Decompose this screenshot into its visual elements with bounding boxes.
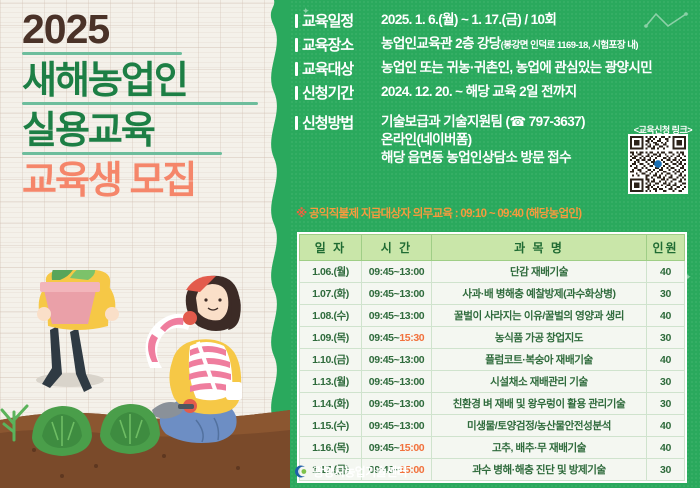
poster-root: 2025 새해농업인 실용교육 교육생 모집 [0,0,700,488]
notice-text: 공익직불제 지급대상자 의무교육 : 09:10 ~ 09:40 (해당농업인) [309,208,581,220]
cell-subject: 단감 재배기술 [432,261,647,283]
headline-underline-2 [22,102,258,105]
info-label-location: 교육장소 [295,34,381,55]
cell-subject: 사과·배 병해충 예찰방제(과수화상병) [432,283,647,305]
organization-logo-icon [293,464,308,479]
table-row: 1.14.(화)09:45~13:00친환경 벼 재배 및 왕우렁이 활용 관리… [300,393,685,415]
cell-date: 1.09.(목) [300,327,362,349]
time-start: 09:45~ [369,332,400,344]
table-row: 1.13.(월)09:45~13:00시설채소 재배관리 기술30 [300,371,685,393]
time-start: 09:45~ [369,266,400,278]
label-bar-icon [295,38,298,52]
cell-date: 1.13.(월) [300,371,362,393]
time-end: 13:00 [399,376,424,388]
cell-date: 1.15.(수) [300,415,362,437]
info-row-location: 교육장소 농업인교육관 2층 강당(봉강면 인덕로 1169-18, 시험포장 … [295,34,695,55]
time-start: 09:45~ [369,354,400,366]
table-row: 1.10.(금)09:45~13:00플럼코트·복숭아 재배기술40 [300,349,685,371]
table-row: 1.08.(수)09:45~13:00꿀벌이 사라지는 이유/꿀벌의 영양과 생… [300,305,685,327]
info-label-application-method: 신청방법 [295,112,381,133]
time-start: 09:45~ [369,376,400,388]
time-end: 13:00 [399,266,424,278]
info-label-text: 교육대상 [302,58,353,79]
course-table-body: 1.06.(월)09:45~13:00단감 재배기술401.07.(화)09:4… [300,261,685,481]
cell-subject: 시설채소 재배관리 기술 [432,371,647,393]
left-panel: 2025 새해농업인 실용교육 교육생 모집 [0,0,290,488]
time-end: 13:00 [399,310,424,322]
info-value-location-address: (봉강면 인덕로 1169-18, 시험포장 내) [501,40,639,51]
cell-subject: 꿀벌이 사라지는 이유/꿀벌의 영양과 생리 [432,305,647,327]
cell-count: 30 [647,283,685,305]
apply-method-line-1: 기술보급과 기술지원팀 (☎ 797-3637) [381,113,585,131]
cell-count: 30 [647,371,685,393]
table-header-row: 일 자 시 간 과 목 명 인원 [300,235,685,261]
headline-block: 2025 새해농업인 실용교육 교육생 모집 [22,8,272,200]
cell-subject: 농식품 가공 창업지도 [432,327,647,349]
th-count: 인원 [647,235,685,261]
label-bar-icon [295,116,298,130]
notice-asterisk-icon: ※ [296,208,306,220]
time-start: 09:45~ [369,398,400,410]
cell-count: 40 [647,437,685,459]
headline-line-3: 교육생 모집 [22,162,272,201]
cell-date: 1.06.(월) [300,261,362,283]
cell-count: 30 [647,327,685,349]
info-label-text: 교육장소 [302,34,353,55]
info-row-audience: 교육대상 농업인 또는 귀농·귀촌인, 농업에 관심있는 광양시민 [295,58,695,79]
right-panel: ✦ ✦ ✦ 교육일정 2025. 1. 6.(월) ~ 1. 17.(금) / … [290,0,700,488]
time-end: 13:00 [399,420,424,432]
info-label-application-period: 신청기간 [295,82,381,103]
time-start: 09:45~ [369,310,400,322]
headline-line-1: 새해농업인 [22,62,272,101]
info-value-location: 농업인교육관 2층 강당(봉강면 인덕로 1169-18, 시험포장 내) [381,34,638,53]
time-end: 15:30 [399,332,424,344]
apply-method-line-2: 온라인(네이버폼) [381,131,585,149]
qr-code[interactable] [628,134,688,194]
time-start: 09:45~ [369,420,400,432]
cell-subject: 플럼코트·복숭아 재배기술 [432,349,647,371]
cell-date: 1.07.(화) [300,283,362,305]
headline-year: 2025 [22,8,272,51]
cell-time: 09:45~15:00 [362,437,432,459]
course-table-wrapper: 일 자 시 간 과 목 명 인원 1.06.(월)09:45~13:00단감 재… [297,232,687,483]
farmers-illustration [0,270,290,488]
course-table: 일 자 시 간 과 목 명 인원 1.06.(월)09:45~13:00단감 재… [299,234,685,481]
label-bar-icon [295,62,298,76]
cell-count: 40 [647,349,685,371]
info-label-text: 신청기간 [302,82,353,103]
cell-subject: 미생물/토양검정/농산물안전성분석 [432,415,647,437]
headline-underline-3 [22,152,222,155]
info-value-schedule: 2025. 1. 6.(월) ~ 1. 17.(금) / 10회 [381,10,556,29]
cell-date: 1.16.(목) [300,437,362,459]
info-label-audience: 교육대상 [295,58,381,79]
info-value-application-method: 기술보급과 기술지원팀 (☎ 797-3637) 온라인(네이버폼) 해당 읍면… [381,112,585,168]
cell-date: 1.14.(화) [300,393,362,415]
cell-subject: 고추, 배추·무 재배기술 [432,437,647,459]
th-date: 일 자 [300,235,362,261]
table-row: 1.09.(목)09:45~15:30농식품 가공 창업지도30 [300,327,685,349]
cell-time: 09:45~13:00 [362,305,432,327]
info-row-application-period: 신청기간 2024. 12. 20. ~ 해당 교육 2일 전까지 [295,82,695,103]
table-row: 1.16.(목)09:45~15:00고추, 배추·무 재배기술40 [300,437,685,459]
headline-underline-1 [22,52,182,55]
cell-count: 40 [647,305,685,327]
cell-date: 1.08.(수) [300,305,362,327]
notice-banner: ※ 공익직불제 지급대상자 의무교육 : 09:10 ~ 09:40 (해당농업… [296,205,694,221]
cell-time: 09:45~13:00 [362,415,432,437]
apply-method-line-3: 해당 읍면동 농업인상담소 방문 접수 [381,149,585,167]
time-end: 13:00 [399,288,424,300]
th-subject: 과 목 명 [432,235,647,261]
info-label-schedule: 교육일정 [295,10,381,31]
time-end: 13:00 [399,354,424,366]
info-label-text: 교육일정 [302,10,353,31]
label-bar-icon [295,86,298,100]
info-value-location-main: 농업인교육관 2층 강당 [381,36,501,51]
cell-time: 09:45~13:00 [362,283,432,305]
info-row-schedule: 교육일정 2025. 1. 6.(월) ~ 1. 17.(금) / 10회 [295,10,695,31]
qr-code-image [630,136,686,192]
organization-name: 광양시농업기술센터 [313,463,407,480]
info-value-audience: 농업인 또는 귀농·귀촌인, 농업에 관심있는 광양시민 [381,58,652,77]
cell-time: 09:45~13:00 [362,261,432,283]
cell-time: 09:45~15:30 [362,327,432,349]
cell-time: 09:45~13:00 [362,371,432,393]
info-label-text: 신청방법 [302,112,353,133]
cell-time: 09:45~13:00 [362,393,432,415]
time-start: 09:45~ [369,288,400,300]
info-value-application-period: 2024. 12. 20. ~ 해당 교육 2일 전까지 [381,82,577,101]
footer: 광양시농업기술센터 [0,463,700,480]
cell-subject: 친환경 벼 재배 및 왕우렁이 활용 관리기술 [432,393,647,415]
headline-line-2: 실용교육 [22,112,272,151]
label-bar-icon [295,14,298,28]
time-end: 13:00 [399,398,424,410]
cell-time: 09:45~13:00 [362,349,432,371]
cell-date: 1.10.(금) [300,349,362,371]
cell-count: 40 [647,261,685,283]
th-time: 시 간 [362,235,432,261]
table-row: 1.06.(월)09:45~13:00단감 재배기술40 [300,261,685,283]
time-end: 15:00 [399,442,424,454]
table-row: 1.07.(화)09:45~13:00사과·배 병해충 예찰방제(과수화상병)3… [300,283,685,305]
cell-count: 30 [647,393,685,415]
table-row: 1.15.(수)09:45~13:00미생물/토양검정/농산물안전성분석40 [300,415,685,437]
cell-count: 40 [647,415,685,437]
time-start: 09:45~ [369,442,400,454]
